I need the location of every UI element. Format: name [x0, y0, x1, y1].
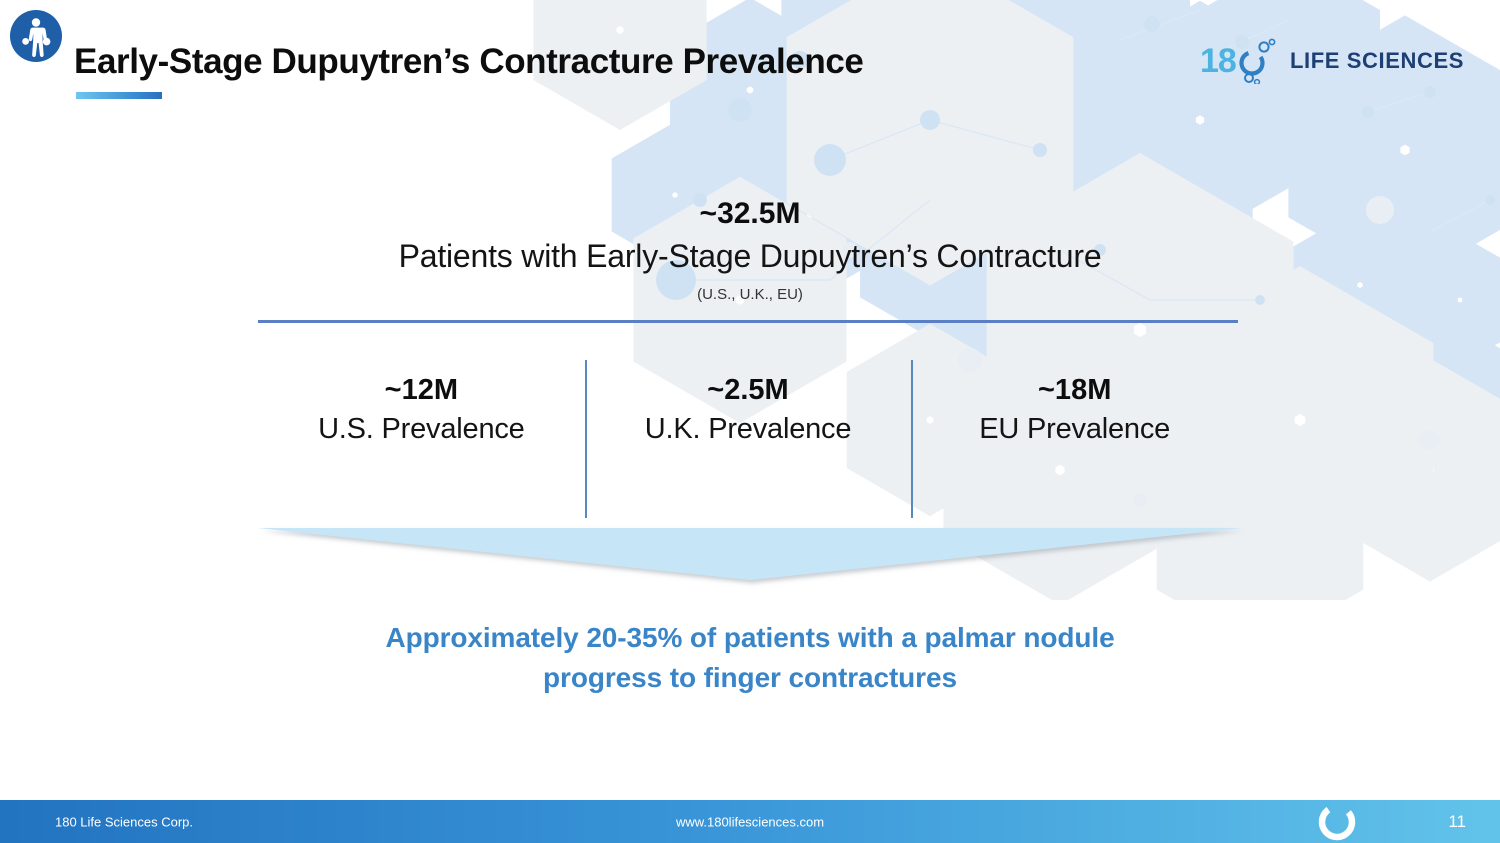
stat-value: ~18M: [911, 372, 1238, 408]
section-divider-rule: [258, 320, 1238, 323]
stat-label: EU Prevalence: [911, 408, 1238, 452]
brand-logo: 18 LIFE SCIENCES: [1200, 38, 1464, 84]
slide-footer: 180 Life Sciences Corp. www.180lifescien…: [0, 800, 1500, 843]
slide-root: Early-Stage Dupuytren’s Contracture Prev…: [0, 0, 1500, 843]
total-prevalence-regions: (U.S., U.K., EU): [0, 286, 1500, 303]
brand-180-icon: 18: [1200, 38, 1284, 84]
stat-column-us: ~12M U.S. Prevalence: [258, 352, 585, 524]
down-chevron-icon: [250, 518, 1250, 598]
callout-line-1: Approximately 20-35% of patients with a …: [0, 618, 1500, 658]
slide-content: ~32.5M Patients with Early-Stage Dupuytr…: [0, 0, 1500, 843]
stat-column-eu: ~18M EU Prevalence: [911, 352, 1238, 524]
page-title: Early-Stage Dupuytren’s Contracture Prev…: [74, 42, 863, 82]
svg-text:18: 18: [1200, 42, 1236, 80]
footer-website[interactable]: www.180lifesciences.com: [0, 814, 1500, 829]
stat-column-uk: ~2.5M U.K. Prevalence: [585, 352, 912, 524]
brand-wordmark: LIFE SCIENCES: [1290, 48, 1464, 74]
company-mark-icon: [10, 10, 62, 62]
stat-label: U.K. Prevalence: [585, 408, 912, 452]
title-accent-bar: [76, 92, 162, 99]
ring-logo-icon: [1314, 799, 1360, 843]
page-number: 11: [1448, 812, 1466, 832]
stat-value: ~2.5M: [585, 372, 912, 408]
total-prevalence-label: Patients with Early-Stage Dupuytren’s Co…: [0, 238, 1500, 275]
prevalence-stats-row: ~12M U.S. Prevalence ~2.5M U.K. Prevalen…: [258, 352, 1238, 524]
stat-label: U.S. Prevalence: [258, 408, 585, 452]
callout-text: Approximately 20-35% of patients with a …: [0, 618, 1500, 698]
total-prevalence-value: ~32.5M: [0, 197, 1500, 231]
stat-value: ~12M: [258, 372, 585, 408]
callout-line-2: progress to finger contractures: [0, 658, 1500, 698]
